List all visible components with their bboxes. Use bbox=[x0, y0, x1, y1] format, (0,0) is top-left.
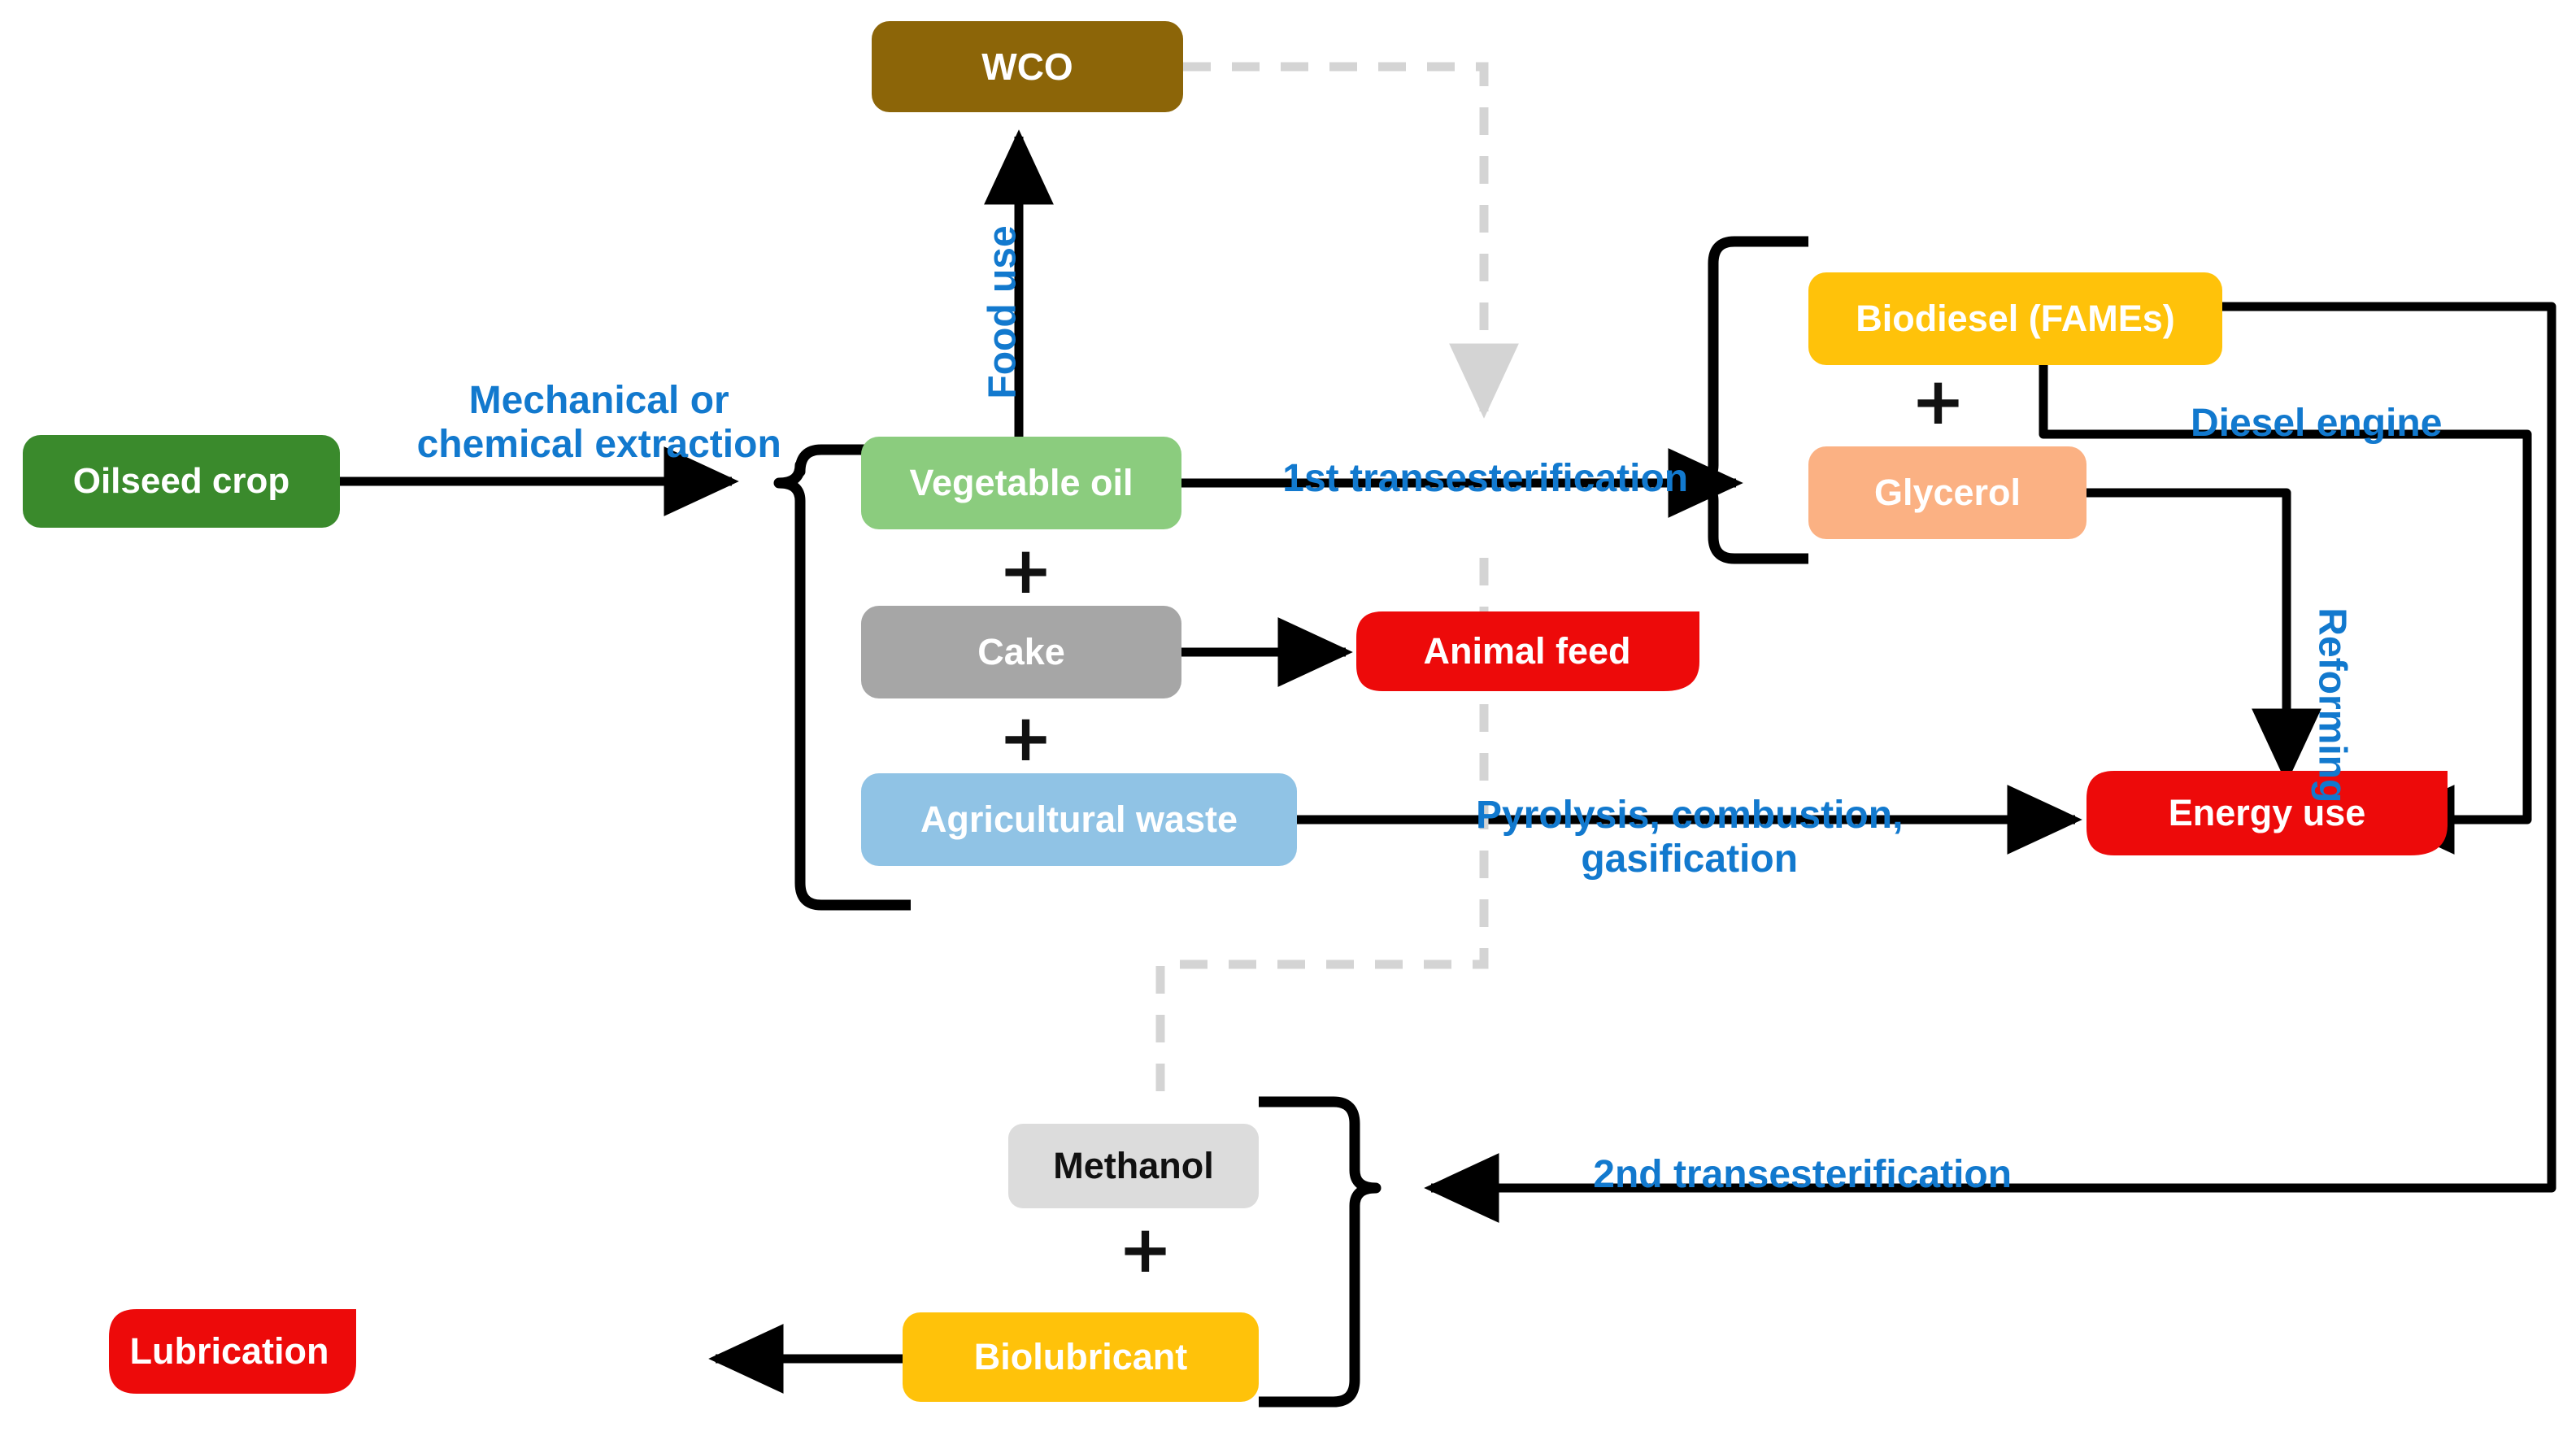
node-label-agricultural-waste: Agricultural waste bbox=[920, 800, 1238, 838]
plus-oil-cake-symbol: + bbox=[999, 533, 1053, 608]
node-label-cake: Cake bbox=[977, 633, 1065, 671]
label-first-transesterification-text: 1st transesterification bbox=[1282, 457, 1688, 500]
label-second-transesterification: 2nd transesterification bbox=[1472, 1109, 2090, 1240]
node-biodiesel[interactable]: Biodiesel (FAMEs) bbox=[1808, 272, 2222, 365]
node-label-biodiesel: Biodiesel (FAMEs) bbox=[1856, 299, 2175, 337]
label-pyrolysis-line2: gasification bbox=[1581, 838, 1798, 881]
label-diesel-engine-text: Diesel engine bbox=[2191, 402, 2442, 445]
node-animal-feed[interactable]: Animal feed bbox=[1355, 611, 1699, 691]
label-first-transesterification: 1st transesterification bbox=[1195, 413, 1732, 544]
node-methanol[interactable]: Methanol bbox=[1008, 1124, 1259, 1208]
node-label-methanol: Methanol bbox=[1053, 1147, 1214, 1185]
node-oilseed-crop[interactable]: Oilseed crop bbox=[23, 435, 340, 528]
label-reforming: Reforming bbox=[2266, 562, 2397, 806]
plus-cake-waste-symbol: + bbox=[999, 700, 1053, 776]
node-agricultural-waste[interactable]: Agricultural waste bbox=[861, 773, 1297, 866]
node-label-oilseed-crop: Oilseed crop bbox=[73, 463, 290, 500]
node-label-glycerol: Glycerol bbox=[1874, 473, 2021, 511]
label-reforming-text: Reforming bbox=[2311, 607, 2354, 803]
node-biolubricant[interactable]: Biolubricant bbox=[903, 1312, 1259, 1402]
plus-methanol-biolubricant-operator: + bbox=[1118, 1212, 1164, 1287]
node-label-wco: WCO bbox=[981, 47, 1073, 86]
node-label-animal-feed: Animal feed bbox=[1423, 632, 1630, 670]
label-second-transesterification-text: 2nd transesterification bbox=[1593, 1153, 2012, 1196]
label-mechanical-or-chemical-extraction: Mechanical or chemical extraction bbox=[333, 335, 821, 510]
node-label-biolubricant: Biolubricant bbox=[974, 1338, 1188, 1376]
plus-methanol-biolubricant-symbol: + bbox=[1118, 1212, 1173, 1287]
label-extraction-line2: chemical extraction bbox=[417, 423, 781, 466]
node-label-lubrication: Lubrication bbox=[130, 1332, 329, 1370]
label-diesel-engine: Diesel engine bbox=[2124, 358, 2465, 489]
output-shapes-layer bbox=[0, 0, 2576, 1449]
label-food-use-text: Food use bbox=[981, 225, 1024, 398]
node-cake[interactable]: Cake bbox=[861, 606, 1181, 698]
plus-oil-cake-operator: + bbox=[999, 533, 1044, 608]
plus-biodiesel-glycerol-symbol: + bbox=[1911, 363, 1965, 439]
plus-biodiesel-glycerol-operator: + bbox=[1911, 363, 1956, 439]
plus-cake-waste-operator: + bbox=[999, 700, 1044, 776]
label-pyrolysis-combustion-gasification: Pyrolysis, combustion, gasification bbox=[1387, 750, 1948, 925]
label-extraction-line1: Mechanical or bbox=[469, 379, 729, 422]
node-glycerol[interactable]: Glycerol bbox=[1808, 446, 2086, 539]
flow-diagram-canvas: Oilseed crop WCO Vegetable oil Cake Agri… bbox=[0, 0, 2576, 1449]
node-lubrication[interactable]: Lubrication bbox=[109, 1309, 350, 1394]
node-wco[interactable]: WCO bbox=[872, 21, 1183, 112]
label-food-use: Food use bbox=[937, 196, 1068, 472]
label-pyrolysis-line1: Pyrolysis, combustion, bbox=[1476, 794, 1903, 837]
